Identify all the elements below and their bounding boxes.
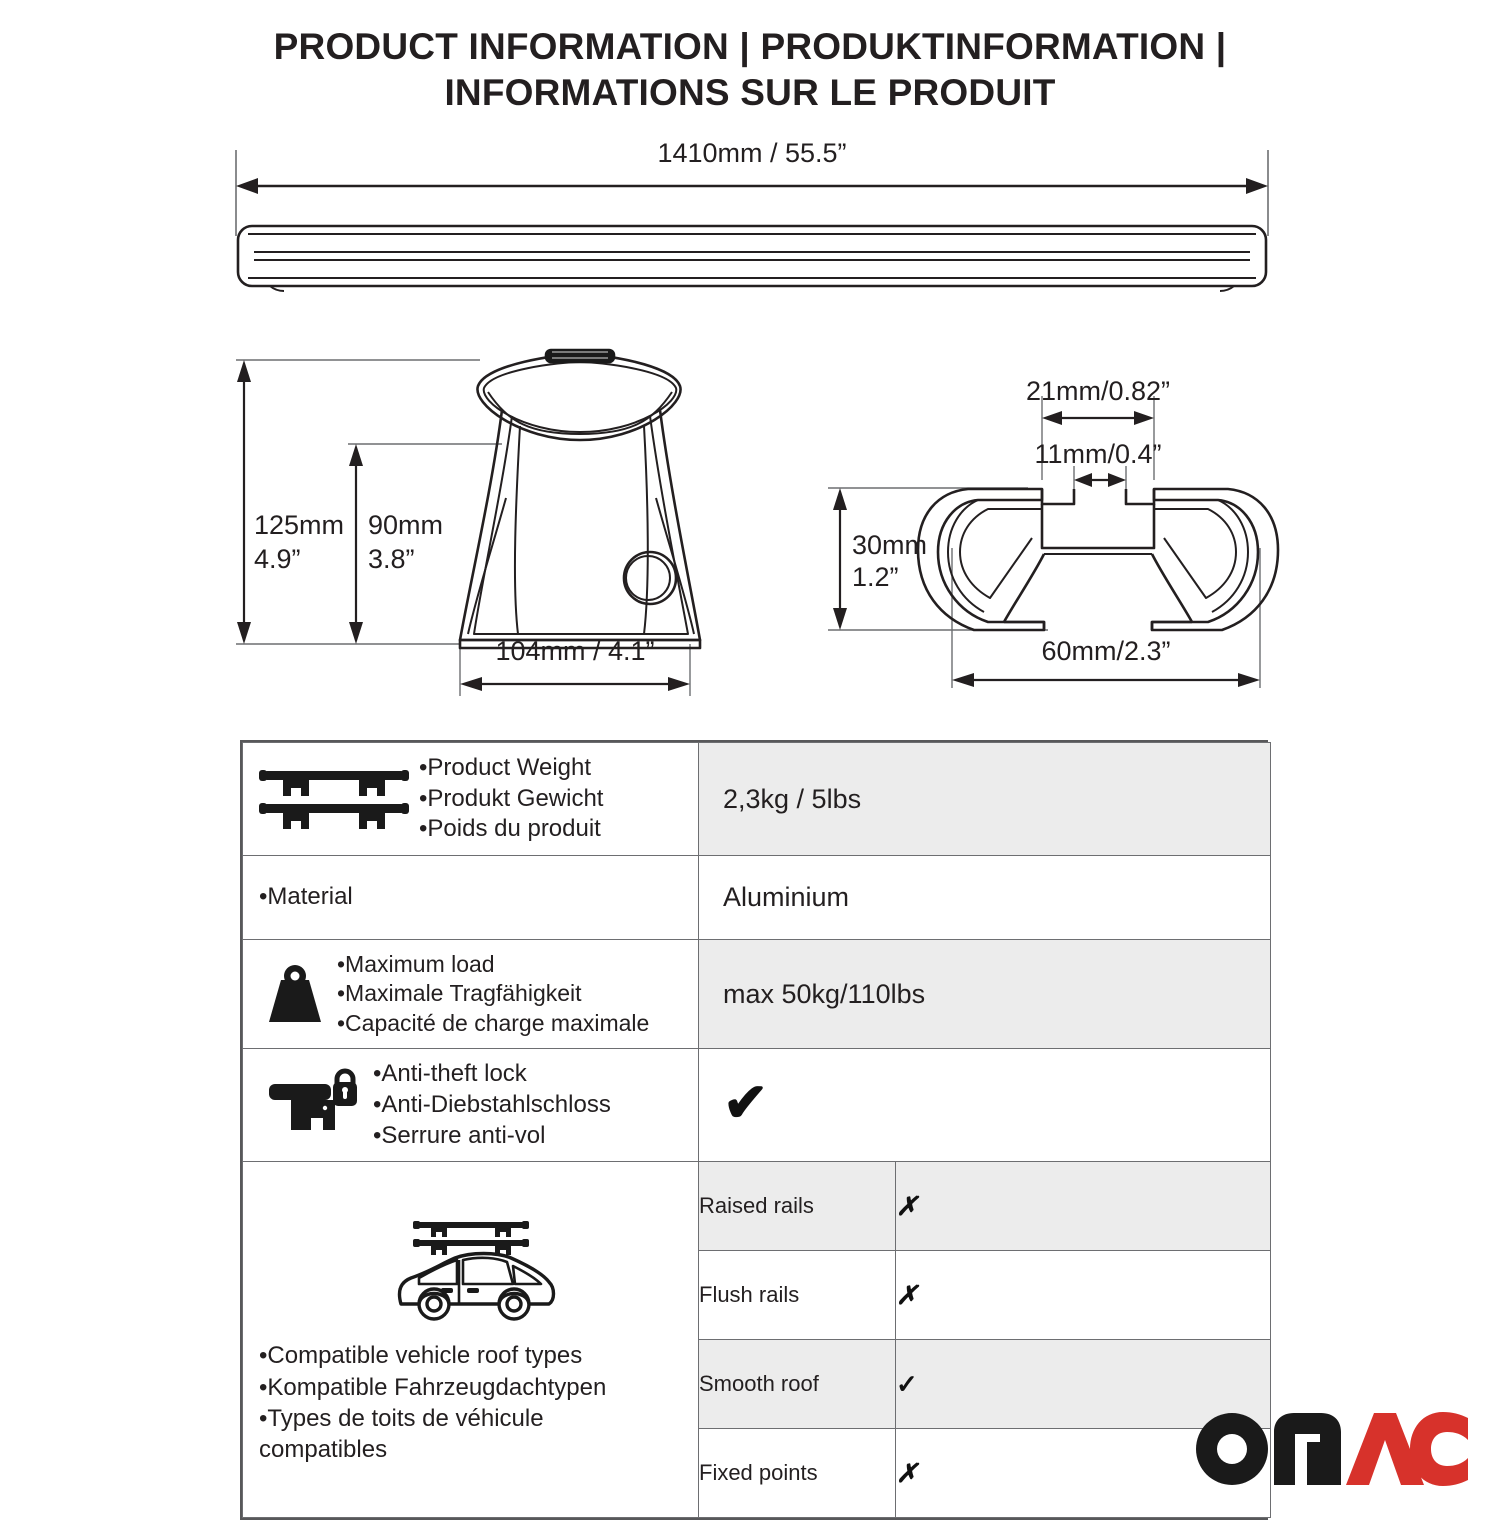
spec-value-cell-material: Aluminium <box>699 856 1271 940</box>
lock-icon <box>267 1068 359 1142</box>
bar-body <box>238 226 1266 291</box>
label-line: •Poids du produit <box>419 814 603 845</box>
label-line: •Kompatible Fahrzeugdachtypen <box>259 1372 690 1403</box>
spec-label-text-material: •Material <box>259 882 353 913</box>
roof-type-name: Smooth roof <box>699 1340 896 1429</box>
label-line: •Produkt Gewicht <box>419 784 603 815</box>
foot-height-total-mm: 125mm <box>254 510 344 540</box>
profile-height-mm: 30mm <box>852 530 927 560</box>
label-line: compatibles <box>259 1434 690 1465</box>
label-line: •Material <box>259 882 353 913</box>
lock-included-check: ✔ <box>699 1070 1270 1140</box>
roof-type-mark: ✗ <box>896 1162 1271 1251</box>
spec-label-text-weight: •Product Weight •Produkt Gewicht •Poids … <box>419 753 603 845</box>
logo-letter-c <box>1410 1412 1468 1486</box>
label-line: •Types de toits de véhicule <box>259 1403 690 1434</box>
roof-type-mark: ✗ <box>896 1251 1271 1340</box>
two-crossbars-icon <box>259 765 409 833</box>
slot-outer-label: 21mm/0.82” <box>1026 376 1170 406</box>
slot-inner-label: 11mm/0.4” <box>1034 439 1161 469</box>
table-row: •Compatible vehicle roof types •Kompatib… <box>243 1162 1271 1518</box>
roof-type-row: Flush rails ✗ <box>699 1251 1270 1340</box>
spec-label-text-roof-types: •Compatible vehicle roof types •Kompatib… <box>259 1340 690 1465</box>
table-row: •Material Aluminium <box>243 856 1271 940</box>
profile-body <box>918 489 1278 630</box>
product-spec-table: •Product Weight •Produkt Gewicht •Poids … <box>240 740 1268 1520</box>
spec-value-cell-weight: 2,3kg / 5lbs <box>699 743 1271 856</box>
spec-label-cell-maxload: •Maximum load •Maximale Tragfähigkeit •C… <box>243 939 699 1048</box>
page-title: PRODUCT INFORMATION | PRODUKTINFORMATION… <box>0 24 1500 117</box>
table-row: •Anti-theft lock •Anti-Diebstahlschloss … <box>243 1049 1271 1162</box>
logo-letter-o <box>1196 1413 1268 1485</box>
label-line: •Maximale Tragfähigkeit <box>337 979 649 1008</box>
foot-height-inner-in: 3.8” <box>368 544 415 574</box>
roof-type-name: Flush rails <box>699 1251 896 1340</box>
spec-label-cell-material: •Material <box>243 856 699 940</box>
spec-label-cell-weight: •Product Weight •Produkt Gewicht •Poids … <box>243 743 699 856</box>
cross-icon: ✗ <box>896 1280 918 1310</box>
roof-types-cell: Raised rails ✗ Flush rails ✗ Smooth roof… <box>699 1162 1271 1518</box>
label-line: •Anti-theft lock <box>373 1059 611 1090</box>
spec-label-text-lock: •Anti-theft lock •Anti-Diebstahlschloss … <box>373 1059 611 1151</box>
label-line: •Product Weight <box>419 753 603 784</box>
profile-height-in: 1.2” <box>852 562 899 592</box>
check-icon: ✓ <box>896 1369 918 1399</box>
label-line: •Compatible vehicle roof types <box>259 1340 690 1371</box>
label-line: •Serrure anti-vol <box>373 1121 611 1152</box>
roof-type-row: Raised rails ✗ <box>699 1162 1270 1251</box>
spec-value-cell-lock: ✔ <box>699 1049 1271 1162</box>
roof-type-name: Fixed points <box>699 1429 896 1518</box>
car-with-crossbars-icon <box>259 1198 690 1340</box>
cross-icon: ✗ <box>896 1458 918 1488</box>
table-row: •Maximum load •Maximale Tragfähigkeit •C… <box>243 939 1271 1048</box>
profile-width-label: 60mm/2.3” <box>1041 636 1170 666</box>
label-line: •Capacité de charge maximale <box>337 1009 649 1038</box>
spec-label-text-maxload: •Maximum load •Maximale Tragfähigkeit •C… <box>337 950 649 1038</box>
foot-height-inner-mm: 90mm <box>368 510 443 540</box>
spec-value-cell-maxload: max 50kg/110lbs <box>699 939 1271 1048</box>
bar-length-label: 1410mm / 55.5” <box>657 138 846 168</box>
foot-body <box>460 350 700 648</box>
label-line: •Maximum load <box>337 950 649 979</box>
omac-logo <box>1196 1412 1468 1486</box>
roof-bar-top-diagram: 1410mm / 55.5” <box>232 138 1272 318</box>
foot-height-total-in: 4.9” <box>254 544 301 574</box>
cross-icon: ✗ <box>896 1191 918 1221</box>
spec-value-maxload: max 50kg/110lbs <box>699 965 1270 1024</box>
page-title-line-1: PRODUCT INFORMATION | PRODUKTINFORMATION… <box>274 26 1227 67</box>
roof-types-table: Raised rails ✗ Flush rails ✗ Smooth roof… <box>699 1162 1270 1517</box>
label-line: •Anti-Diebstahlschloss <box>373 1090 611 1121</box>
logo-letter-m <box>1274 1413 1341 1485</box>
table-row: •Product Weight •Produkt Gewicht •Poids … <box>243 743 1271 856</box>
roof-type-name: Raised rails <box>699 1162 896 1251</box>
spec-value-weight: 2,3kg / 5lbs <box>699 770 1270 829</box>
spec-label-cell-lock: •Anti-theft lock •Anti-Diebstahlschloss … <box>243 1049 699 1162</box>
bar-cross-section-diagram: 21mm/0.82” 11mm/0.4” 30mm 1.2” 60mm/2.3” <box>818 368 1288 698</box>
roof-type-row: Fixed points ✗ <box>699 1429 1270 1518</box>
spec-value-material: Aluminium <box>699 868 1270 927</box>
spec-label-cell-roof-types: •Compatible vehicle roof types •Kompatib… <box>243 1162 699 1518</box>
page-title-line-2: INFORMATIONS SUR LE PRODUIT <box>0 70 1500 116</box>
roof-type-row: Smooth roof ✓ <box>699 1340 1270 1429</box>
weight-icon <box>259 958 331 1030</box>
mounting-foot-diagram: 125mm 4.9” 90mm 3.8” 104mm / 4.1” <box>230 348 730 708</box>
